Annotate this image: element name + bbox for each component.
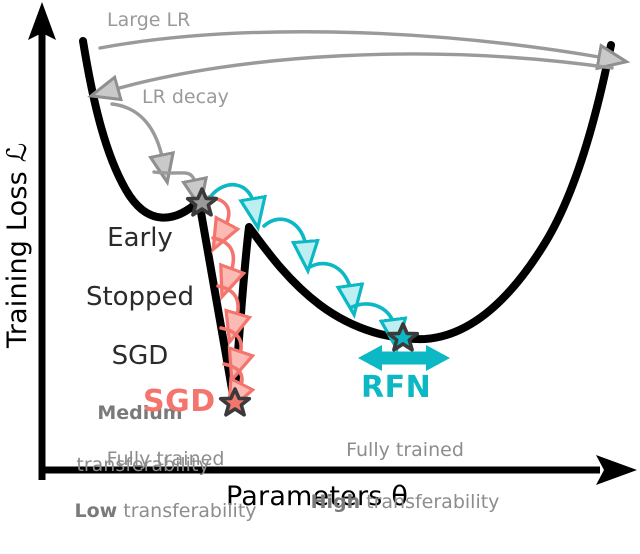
- rfn-hop-3: [308, 264, 351, 292]
- early-stopped-line-3: SGD: [60, 343, 220, 370]
- sgd-star: [221, 389, 250, 415]
- early-stopped-line-2: Stopped: [60, 284, 220, 311]
- sgd-level: Low: [74, 500, 117, 522]
- lr-decay-hop-1: [112, 104, 163, 161]
- rfn-heading: RFN: [361, 373, 431, 404]
- sgd-transferability: Low transferability: [58, 502, 273, 521]
- lr-decay-arcs-group: [112, 104, 196, 186]
- rfn-fully-trained: Fully trained: [290, 441, 520, 460]
- rfn-width-double-arrow: [358, 345, 450, 371]
- large-lr-arc-leftward: [112, 54, 612, 90]
- loss-landscape-figure: Training Loss ℒ Parameters θ Large LR LR…: [0, 0, 640, 517]
- early-stopped-line-1: Early: [60, 225, 220, 252]
- y-axis-label: Training Loss ℒ: [4, 143, 32, 348]
- sgd-callout: Fully trained Low transferability: [58, 417, 273, 554]
- rfn-callout: Fully trained High transferability: [290, 408, 520, 545]
- x-axis-arrowhead: [596, 455, 637, 485]
- lr-decay-hop-2: [154, 172, 196, 186]
- sgd-transferability-word: transferability: [117, 500, 256, 522]
- rfn-star: [389, 324, 418, 350]
- rfn-transferability-word: transferability: [360, 491, 499, 513]
- sgd-fully-trained: Fully trained: [58, 450, 273, 469]
- rfn-level: High: [311, 491, 361, 513]
- lr-decay-annotation: LR decay: [142, 88, 229, 107]
- rfn-hop-2: [264, 219, 306, 248]
- sgd-heading: SGD: [143, 387, 216, 418]
- rfn-transferability: High transferability: [290, 493, 520, 512]
- large-lr-annotation: Large LR: [107, 11, 190, 30]
- large-lr-arcs-group: [100, 32, 612, 90]
